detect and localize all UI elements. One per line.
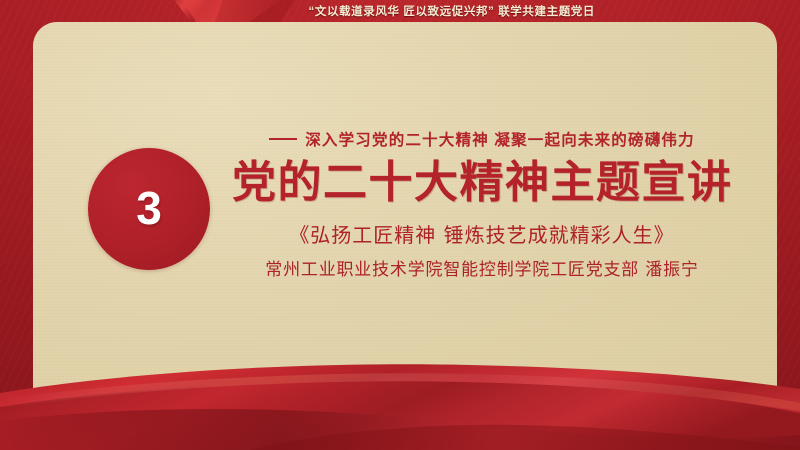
section-number-label: 3 xyxy=(136,185,162,231)
slide-presenter-line: 常州工业职业技术学院智能控制学院工匠党支部 潘振宁 xyxy=(232,255,732,280)
header-banner: “文以载道录风华 匠以致远促兴邦” 联学共建主题党日 xyxy=(0,0,800,22)
section-number-badge: 3 xyxy=(88,148,210,270)
slide-quote-line: 《弘扬工匠精神 锤炼技艺成就精彩人生》 xyxy=(232,219,732,248)
header-banner-text: “文以载道录风华 匠以致远促兴邦” 联学共建主题党日 xyxy=(309,3,596,19)
em-dash-rule-icon xyxy=(269,138,297,141)
presentation-slide: “文以载道录风华 匠以致远促兴邦” 联学共建主题党日 3 深入学习党的二十大精神… xyxy=(0,0,800,450)
title-text-block: 深入学习党的二十大精神 凝聚一起向未来的磅礴伟力 党的二十大精神主题宣讲 《弘扬… xyxy=(232,128,732,280)
slide-main-title: 党的二十大精神主题宣讲 xyxy=(232,158,732,207)
slide-subtitle-top: 深入学习党的二十大精神 凝聚一起向未来的磅礴伟力 xyxy=(232,128,732,150)
slide-subtitle-top-text: 深入学习党的二十大精神 凝聚一起向未来的磅礴伟力 xyxy=(305,128,695,150)
gold-stars-group xyxy=(0,355,800,450)
